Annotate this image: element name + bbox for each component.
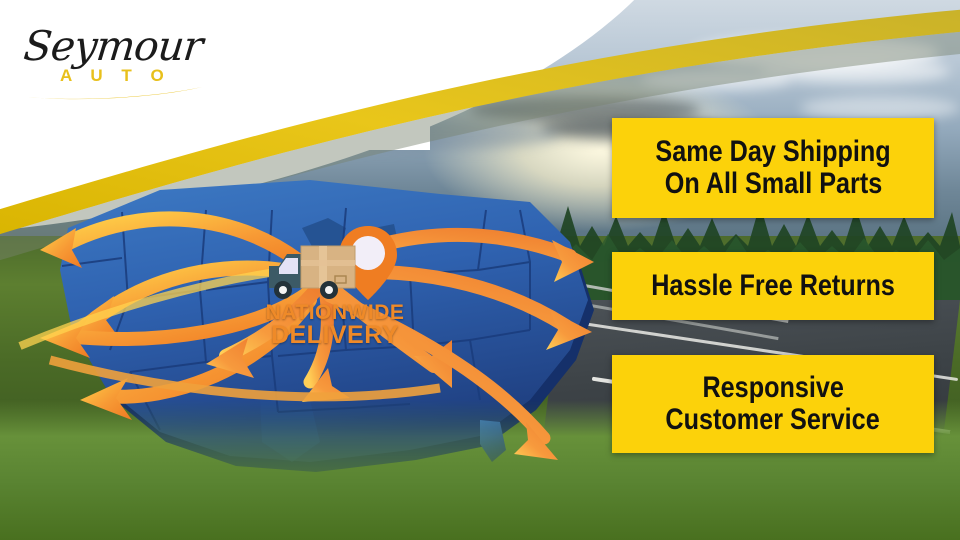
nationwide-delivery-label: NATIONWIDE DELIVERY	[255, 302, 415, 349]
banner-line: Responsive	[702, 372, 843, 404]
delivery-truck-icon	[267, 240, 363, 302]
banner-hassle-free-returns[interactable]: Hassle Free Returns	[612, 252, 934, 320]
banner-line: Hassle Free Returns	[651, 270, 895, 302]
banner-responsive-customer-service[interactable]: Responsive Customer Service	[612, 355, 934, 453]
banner-same-day-shipping[interactable]: Same Day Shipping On All Small Parts	[612, 118, 934, 218]
promo-banner-stage: Seymour A U T O	[0, 0, 960, 540]
brand-logo[interactable]: Seymour A U T O	[18, 14, 228, 100]
banner-line: On All Small Parts	[664, 168, 882, 200]
brand-name: Seymour	[21, 22, 204, 70]
cloud	[800, 96, 960, 120]
label-line-2: DELIVERY	[271, 321, 399, 349]
banner-line: Same Day Shipping	[655, 136, 890, 168]
nationwide-delivery-badge: NATIONWIDE DELIVERY	[255, 218, 415, 368]
cloud	[640, 70, 790, 90]
logo-swash-icon	[26, 84, 206, 102]
banner-line: Customer Service	[666, 404, 880, 436]
brand-sub: A U T O	[60, 66, 171, 86]
